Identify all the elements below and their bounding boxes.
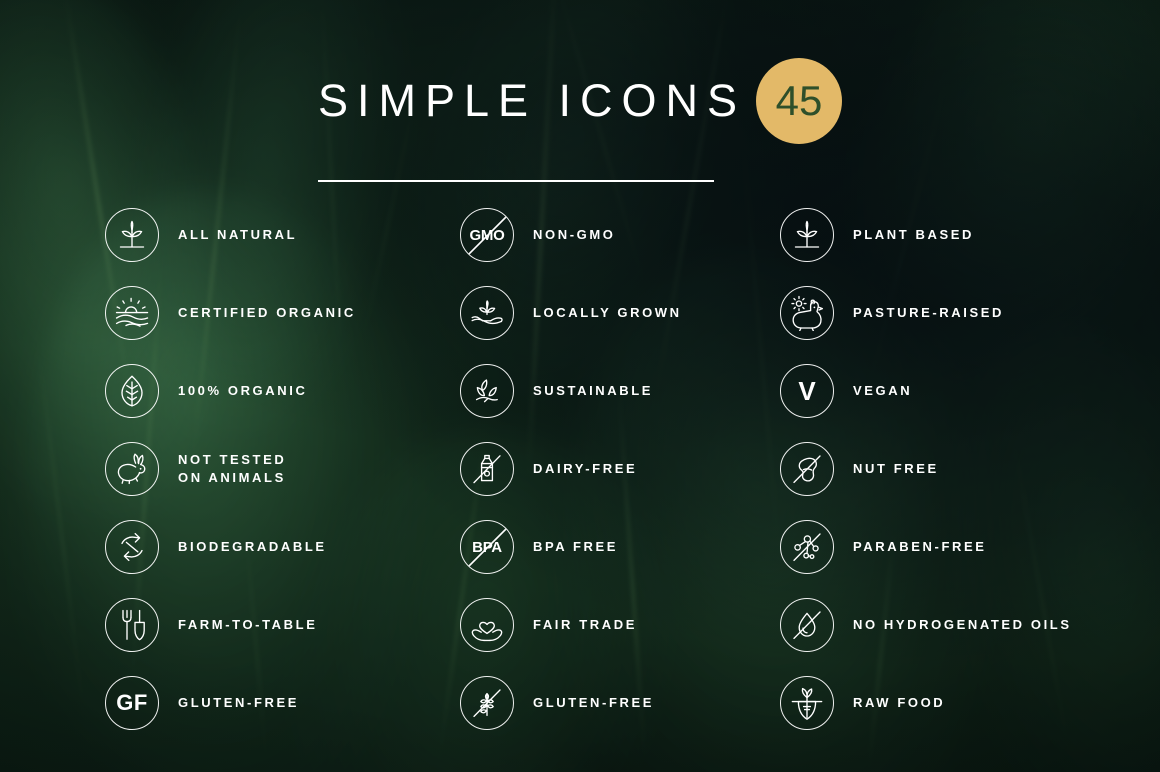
peanut-crossed-out-icon[interactable] [780,442,834,496]
icon-column-1: ALL NATURAL CERTIFIED ORGANIC 100% ORGAN… [105,196,460,742]
three-leaves-icon[interactable] [460,364,514,418]
icon-label: GLUTEN-FREE [178,694,299,712]
v-monogram-icon[interactable]: V [780,364,834,418]
hands-holding-heart-icon[interactable] [460,598,514,652]
icon-label: FAIR TRADE [533,616,637,634]
icon-label: PARABEN-FREE [853,538,987,556]
crossed-out-text-wrapper: GMO [461,208,513,262]
title-row: SIMPLE ICONS 45 [318,56,842,144]
fork-and-shovel-icon[interactable] [105,598,159,652]
beet-icon[interactable] [780,676,834,730]
icon-label: VEGAN [853,382,912,400]
icon-row[interactable]: GMONON-GMO [460,196,780,274]
icon-column-2: GMONON-GMO LOCALLY GROWN SUSTAINABLE [460,196,780,742]
crossed-out-text-wrapper: BPA [461,520,513,574]
wheat-crossed-out-icon[interactable] [460,676,514,730]
icon-row[interactable]: GFGLUTEN-FREE [105,664,460,742]
icon-label: GLUTEN-FREE [533,694,654,712]
icon-column-3: PLANT BASED PASTURE-RAISEDVVEGAN NUT FRE… [780,196,1160,742]
icon-row[interactable]: NOT TESTED ON ANIMALS [105,430,460,508]
monogram-text: V [798,378,815,404]
icon-row[interactable]: NO HYDROGENATED OILS [780,586,1160,664]
icon-row[interactable]: BIODEGRADABLE [105,508,460,586]
bpa-crossed-out-icon[interactable]: BPA [460,520,514,574]
icon-grid: ALL NATURAL CERTIFIED ORGANIC 100% ORGAN… [0,196,1160,742]
slash-icon [461,208,514,262]
icon-label: NUT FREE [853,460,939,478]
icon-label: DAIRY-FREE [533,460,637,478]
poster-header: SIMPLE ICONS 45 [0,56,1160,182]
icon-row[interactable]: GLUTEN-FREE [460,664,780,742]
icon-label: BPA FREE [533,538,618,556]
molecule-crossed-out-icon[interactable] [780,520,834,574]
hand-with-sprout-icon[interactable] [460,286,514,340]
sprout-icon[interactable] [780,208,834,262]
poster-canvas: SIMPLE ICONS 45 ALL NATURAL [0,0,1160,772]
icon-label: NO HYDROGENATED OILS [853,616,1072,634]
recycle-arrows-icon[interactable] [105,520,159,574]
icon-row[interactable]: PARABEN-FREE [780,508,1160,586]
icon-row[interactable]: CERTIFIED ORGANIC [105,274,460,352]
icon-row[interactable]: 100% ORGANIC [105,352,460,430]
icon-row[interactable]: NUT FREE [780,430,1160,508]
icon-label: SUSTAINABLE [533,382,653,400]
icon-label: BIODEGRADABLE [178,538,327,556]
leaf-icon[interactable] [105,364,159,418]
icon-row[interactable]: DAIRY-FREE [460,430,780,508]
icon-row[interactable]: PLANT BASED [780,196,1160,274]
icon-row[interactable]: LOCALLY GROWN [460,274,780,352]
icon-row[interactable]: SUSTAINABLE [460,352,780,430]
gmo-crossed-out-icon[interactable]: GMO [460,208,514,262]
icon-label: PASTURE-RAISED [853,304,1004,322]
sprout-icon[interactable] [105,208,159,262]
icon-label: RAW FOOD [853,694,945,712]
chicken-with-sun-icon[interactable] [780,286,834,340]
icon-row[interactable]: ALL NATURAL [105,196,460,274]
oil-droplet-crossed-out-icon[interactable] [780,598,834,652]
icon-row[interactable]: BPABPA FREE [460,508,780,586]
count-badge-value: 45 [776,80,823,122]
page-title: SIMPLE ICONS [318,78,760,123]
count-badge: 45 [756,58,842,144]
sun-over-field-icon[interactable] [105,286,159,340]
icon-label: 100% ORGANIC [178,382,307,400]
icon-label: FARM-TO-TABLE [178,616,317,634]
slash-icon [461,520,514,574]
icon-label: NOT TESTED ON ANIMALS [178,451,286,487]
icon-label: CERTIFIED ORGANIC [178,304,356,322]
icon-label: ALL NATURAL [178,226,297,244]
icon-label: PLANT BASED [853,226,974,244]
icon-row[interactable]: FARM-TO-TABLE [105,586,460,664]
icon-row[interactable]: RAW FOOD [780,664,1160,742]
icon-row[interactable]: FAIR TRADE [460,586,780,664]
icon-label: NON-GMO [533,226,615,244]
icon-row[interactable]: VVEGAN [780,352,1160,430]
monogram-text: GF [116,692,148,714]
title-underline-rule [318,180,714,182]
rabbit-icon[interactable] [105,442,159,496]
gf-monogram-icon[interactable]: GF [105,676,159,730]
icon-label: LOCALLY GROWN [533,304,682,322]
icon-row[interactable]: PASTURE-RAISED [780,274,1160,352]
milk-carton-crossed-out-icon[interactable] [460,442,514,496]
